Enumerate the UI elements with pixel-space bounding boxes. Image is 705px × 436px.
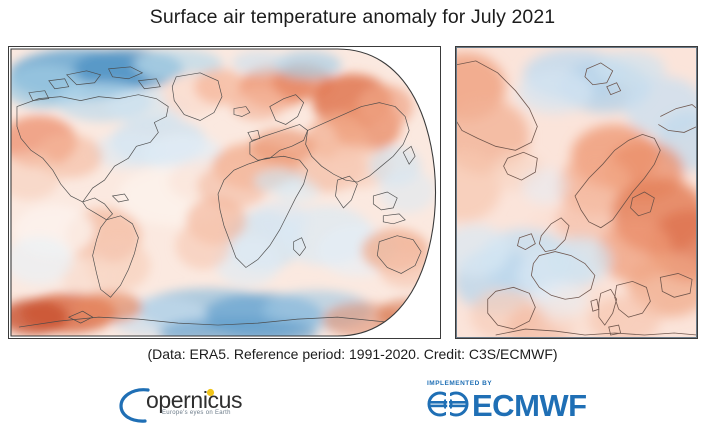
- map-area: [0, 46, 705, 342]
- copernicus-logo: opernicus Europe's eyes on Earth: [118, 382, 298, 428]
- page-title: Surface air temperature anomaly for July…: [0, 6, 705, 29]
- global-map-svg: [9, 47, 440, 338]
- logo-bar: opernicus Europe's eyes on Earth IMPLEME…: [0, 378, 705, 436]
- global-map-panel: [8, 46, 441, 339]
- ecmwf-logo: IMPLEMENTED BY ECMWF: [424, 378, 624, 428]
- ecmwf-emblem-icon: [426, 390, 470, 418]
- ecmwf-implemented-by-label: IMPLEMENTED BY: [427, 380, 492, 387]
- europe-inset-panel: [455, 46, 698, 339]
- ecmwf-wordmark: ECMWF: [472, 388, 587, 424]
- europe-inset-svg: [456, 47, 697, 338]
- copernicus-dot-icon: [206, 388, 215, 397]
- figure-caption: (Data: ERA5. Reference period: 1991-2020…: [0, 346, 705, 362]
- copernicus-tagline: Europe's eyes on Earth: [162, 410, 231, 416]
